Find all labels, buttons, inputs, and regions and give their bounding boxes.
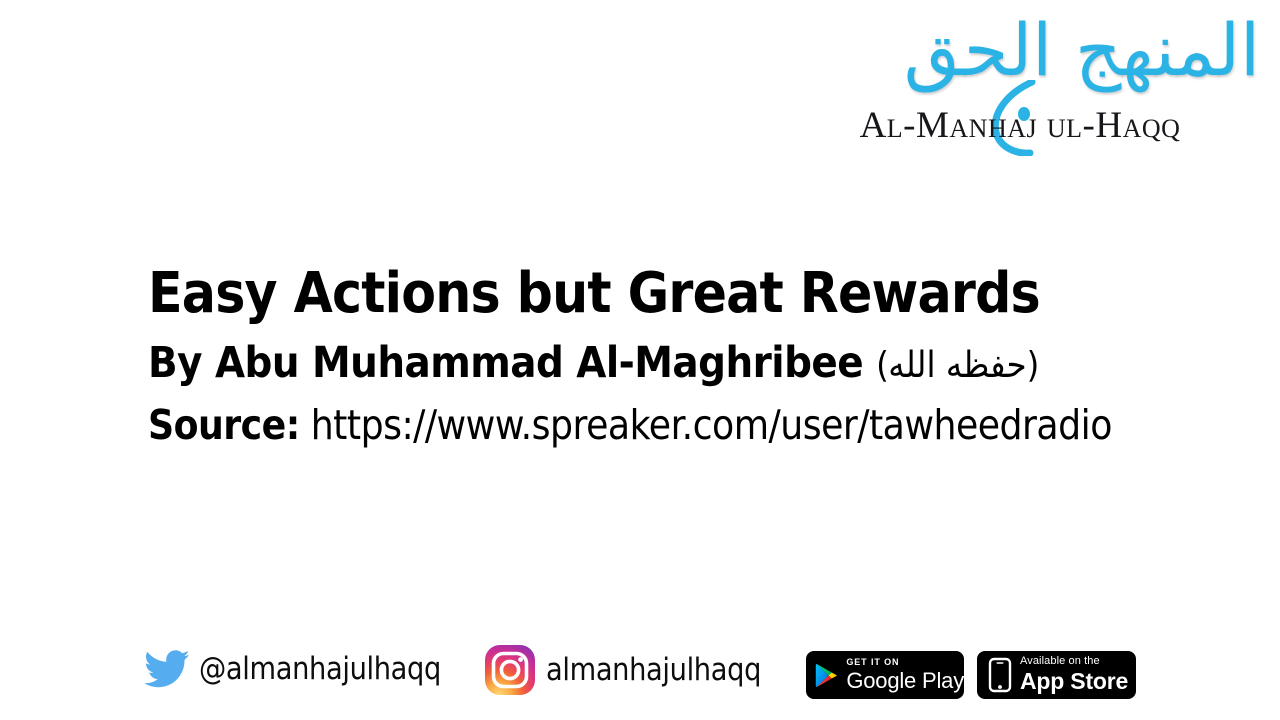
app-store-badge[interactable]: Available on the App Store (976, 650, 1137, 700)
author-name: By Abu Muhammad Al-Maghribee (148, 338, 863, 388)
author-dua: (حفظه الله) (876, 345, 1039, 386)
google-play-icon (815, 659, 838, 692)
source-line: Source: https://www.spreaker.com/user/ta… (148, 398, 1033, 453)
google-play-large-text: Google Play (846, 669, 964, 692)
brand-wordmark-text: Al-Manhaj ul-Haqq (860, 105, 1181, 146)
twitter-bird-icon[interactable] (143, 648, 191, 690)
google-play-small-text: GET IT ON (846, 658, 964, 667)
title-block: Easy Actions but Great Rewards By Abu Mu… (148, 258, 1148, 453)
app-store-small-text: Available on the (1020, 656, 1128, 667)
app-store-large-text: App Store (1020, 669, 1128, 693)
footer-bar: @almanhajulhaqq almanhajulhaqq (0, 640, 1280, 718)
google-play-badge[interactable]: GET IT ON Google Play (805, 650, 965, 700)
apple-iphone-icon (988, 657, 1012, 693)
instagram-handle: almanhajulhaqq (546, 652, 761, 688)
google-play-badge-text: GET IT ON Google Play (846, 658, 964, 692)
source-label: Source: (148, 401, 300, 449)
instagram-icon[interactable] (482, 642, 538, 698)
page-title: Easy Actions but Great Rewards (148, 258, 1053, 331)
twitter-handle: @almanhajulhaqq (199, 651, 441, 687)
twitter-link[interactable]: @almanhajulhaqq (143, 648, 474, 690)
brand-logo: المنهج الحق Al-Manhaj ul-Haqq (768, 8, 1268, 158)
brand-wordmark: Al-Manhaj ul-Haqq (778, 104, 1262, 147)
brand-arabic-calligraphy: المنهج الحق (860, 2, 1260, 99)
instagram-link[interactable]: almanhajulhaqq (482, 642, 790, 698)
source-url[interactable]: https://www.spreaker.com/user/tawheedrad… (311, 401, 1112, 449)
author-byline: By Abu Muhammad Al-Maghribee (حفظه الله) (148, 335, 1053, 392)
app-store-badge-text: Available on the App Store (1020, 656, 1128, 693)
